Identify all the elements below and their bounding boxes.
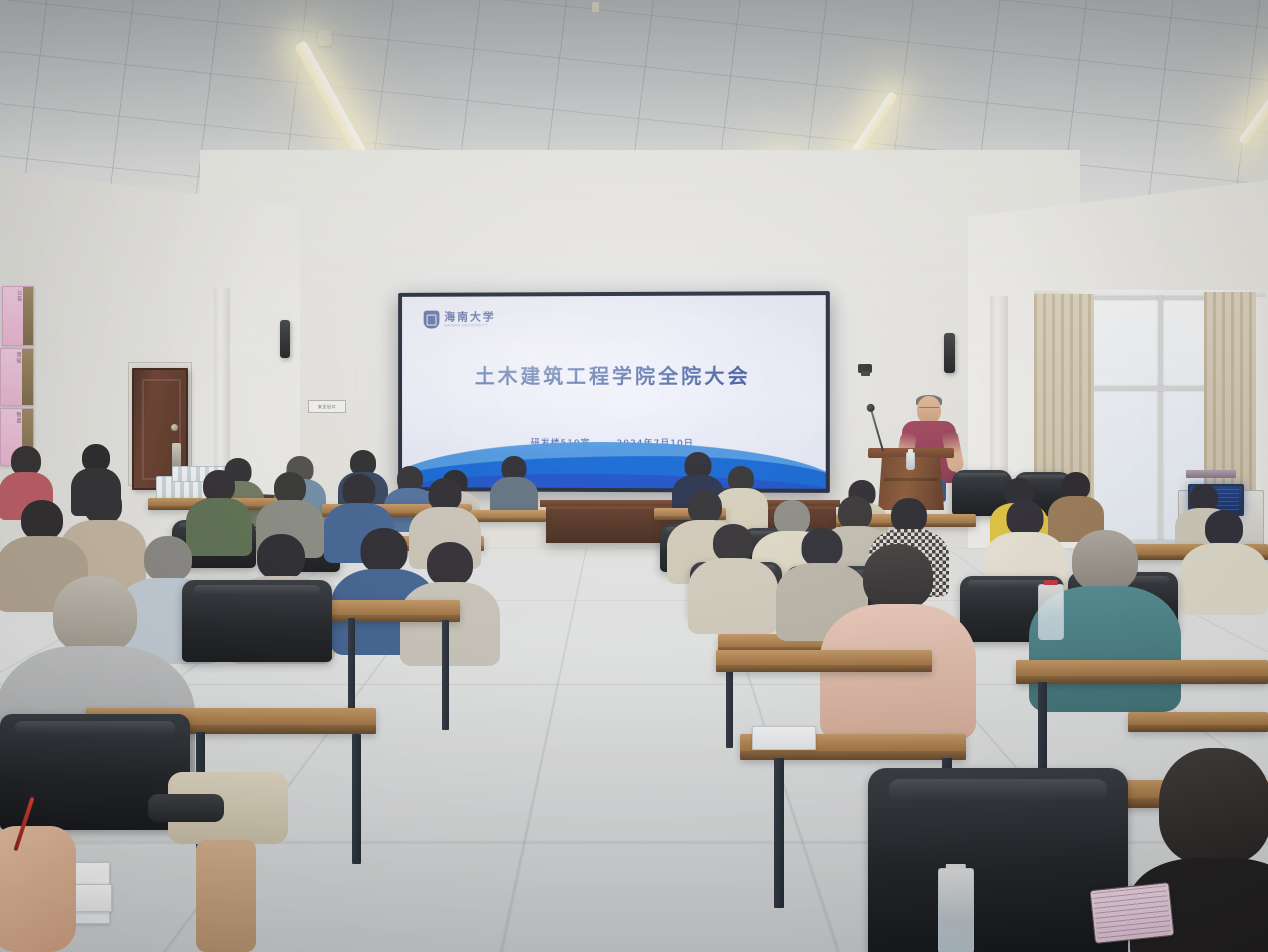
tube-light-stem — [318, 30, 332, 46]
logo-name-cn: 海南大学 — [444, 311, 495, 322]
chair-armrest — [148, 794, 224, 822]
attendee-head — [891, 498, 927, 533]
lecture-hall-photo: 公告 须知 制度 安全出口 — [0, 0, 1268, 952]
wall-sign: 安全出口 — [308, 400, 346, 413]
desk-leg — [442, 620, 449, 730]
poster-strip — [23, 287, 33, 345]
desk — [470, 510, 546, 522]
security-camera-icon — [858, 364, 872, 373]
wall-speaker-left — [280, 320, 290, 358]
desk — [1016, 660, 1268, 684]
attendee-head — [863, 544, 933, 610]
shield-icon — [424, 311, 440, 329]
attendee-body — [820, 604, 976, 740]
attendee-hand — [0, 826, 76, 952]
desk — [1128, 712, 1268, 732]
attendee — [1184, 510, 1264, 610]
attendee-head — [1159, 748, 1268, 864]
attendee-head — [21, 500, 63, 540]
attendee-leg — [196, 840, 256, 952]
glasses-icon — [919, 407, 939, 412]
attendee-body — [1180, 543, 1268, 615]
attendee-head — [713, 524, 753, 562]
desk — [716, 650, 932, 672]
logo-name-en: HAINAN UNIVERSITY — [444, 324, 495, 328]
desk-leg — [774, 758, 784, 908]
desk-leg — [352, 734, 361, 864]
door-knob-icon[interactable] — [171, 424, 178, 431]
phone-screen — [1093, 885, 1172, 940]
attendee-head — [1007, 500, 1044, 536]
sprinkler-head — [592, 2, 599, 12]
chair — [182, 580, 332, 662]
wall-poster-2: 须知 — [0, 348, 34, 406]
attendee-head — [838, 496, 872, 530]
attendee-head — [53, 576, 137, 654]
attendee-head — [1072, 530, 1138, 592]
smartphone[interactable] — [1089, 882, 1174, 944]
books-on-cabinet — [1186, 470, 1236, 478]
podium-water-bottle — [906, 452, 915, 470]
poster-strip — [22, 349, 33, 405]
wall-poster-1: 公告 — [2, 286, 34, 346]
attendee-head — [427, 542, 473, 586]
attendee-head — [84, 486, 122, 524]
poster-text: 须知 — [3, 352, 22, 401]
window-mullion — [1158, 296, 1163, 544]
poster-text: 公告 — [5, 290, 22, 341]
notebook[interactable] — [752, 726, 816, 750]
attendee-head — [361, 528, 408, 573]
attendee-head — [688, 490, 722, 524]
attendee-body — [688, 558, 778, 634]
chair — [868, 768, 1128, 952]
wall-speaker-right — [944, 333, 955, 373]
projection-screen: 海南大学 HAINAN UNIVERSITY 土木建筑工程学院全院大会 研发楼5… — [398, 291, 830, 493]
university-logo: 海南大学 HAINAN UNIVERSITY — [424, 310, 496, 328]
bottle-cap — [946, 864, 966, 869]
attendee-head — [257, 534, 305, 580]
attendee-pink-shirt-front-right — [832, 544, 964, 734]
attendee-head — [1205, 510, 1243, 547]
projected-slide: 海南大学 HAINAN UNIVERSITY 土木建筑工程学院全院大会 研发楼5… — [402, 295, 826, 489]
attendee-body — [400, 582, 500, 666]
attendee — [692, 524, 774, 632]
water-bottle-red-cap[interactable] — [1038, 584, 1064, 640]
podium-trim — [884, 478, 938, 481]
attendee — [492, 456, 536, 518]
water-bottle-white-cap[interactable] — [938, 868, 974, 952]
bottle-cap — [1044, 580, 1058, 585]
slide-title: 土木建筑工程学院全院大会 — [402, 360, 826, 389]
